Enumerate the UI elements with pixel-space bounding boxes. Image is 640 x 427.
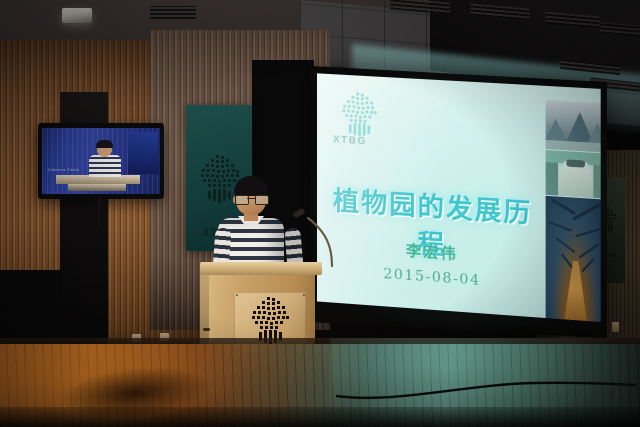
slide-photo-garden-path [546,150,601,199]
monitor-caption: Camera Feed [48,167,79,172]
monitor-feed-speaker [88,142,122,176]
ceiling-light-1 [62,8,92,23]
podium-screw-2 [303,294,305,296]
lecture-hall-scene: Camera Feed [0,0,640,427]
monitor-feed-speaker-body [89,155,121,177]
slide-logo-text: XTBG [333,134,367,147]
monitor-cable [98,196,101,230]
monitor-feed-sidepanel [128,132,158,174]
wall-monitor[interactable]: Camera Feed [38,123,164,199]
floor-cable [336,378,636,400]
monitor-feed-speaker-hair [96,140,113,148]
podium-top-surface [200,262,322,275]
slide-photo-mountain [546,100,601,152]
ceiling-vent-1 [150,6,196,19]
podium-screw-1 [236,294,238,296]
presentation-slide: XTBG 植物园的发展历程 李宏伟 2015-08-04 [317,73,601,322]
speaker-person [214,176,302,272]
speaker-hair [234,176,268,196]
monitor-screen: Camera Feed [42,128,160,194]
slide-photo-tree-trunk [546,196,601,322]
foreground-shadow [0,407,640,427]
slide-xtbg-tree-logo-icon [337,90,381,141]
projection-screen: XTBG 植物园的发展历程 李宏伟 2015-08-04 [311,66,607,332]
microphone-icon [292,212,336,268]
monitor-feed-desk-front [68,184,126,191]
wall-outlet-3[interactable] [612,322,619,332]
podium-handle[interactable] [203,328,210,331]
glasses-icon [235,195,267,203]
